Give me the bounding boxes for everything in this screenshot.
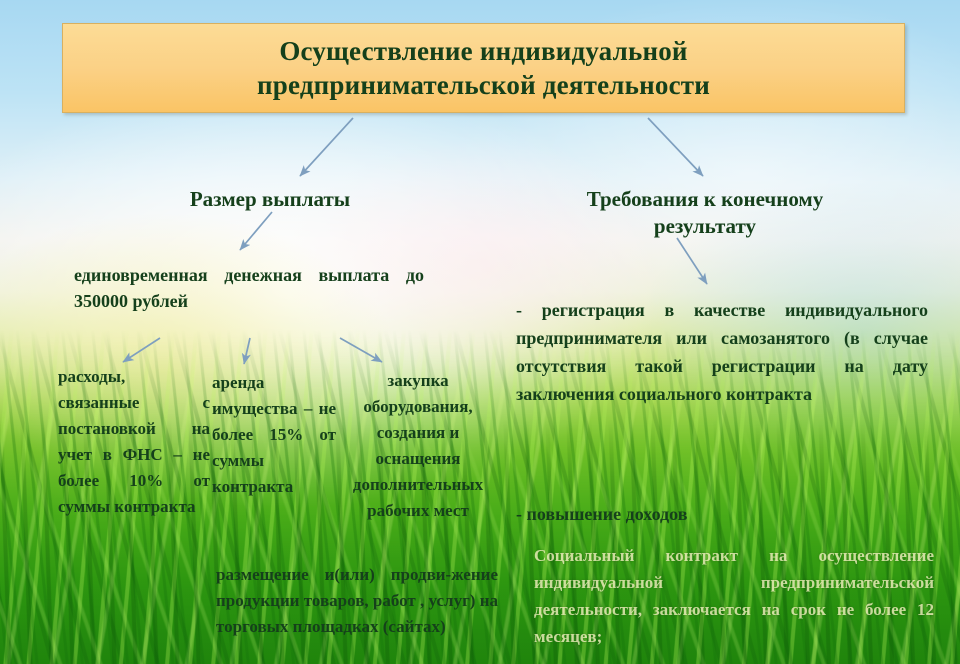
arrow-amount-to-expenses	[123, 338, 160, 362]
arrow-result-to-requirements	[677, 238, 707, 284]
result-requirement-income: - повышение доходов	[516, 500, 928, 528]
payment-amount-text: единовременная денежная выплата до 35000…	[74, 262, 424, 314]
arrow-amount-to-equipment	[340, 338, 382, 362]
arrow-payment-to-amount	[240, 212, 272, 250]
payment-branch-heading: Размер выплаты	[130, 186, 410, 213]
result-requirement-registration: - регистрация в качестве индивидуального…	[516, 296, 928, 408]
result-branch-heading: Требования к конечному результату	[540, 186, 870, 240]
arrow-title-to-payment	[300, 118, 353, 176]
result-heading-line-1: Требования к конечному	[540, 186, 870, 213]
slide-canvas: Осуществление индивидуальной предпринима…	[0, 0, 960, 664]
slide-title-line-2: предпринимательской деятельности	[257, 68, 710, 102]
slide-title-line-1: Осуществление индивидуальной	[279, 34, 687, 68]
arrow-amount-to-rent	[244, 338, 250, 364]
payment-item-expenses: расходы, связанные с постановкой на учет…	[58, 364, 210, 520]
result-heading-line-2: результату	[540, 213, 870, 240]
payment-item-promotion: размещение и(или) продви-жение продукции…	[216, 562, 498, 640]
payment-item-equipment: закупка оборудования, создания и оснащен…	[336, 368, 500, 524]
slide-title-banner: Осуществление индивидуальной предпринима…	[62, 23, 905, 113]
result-contract-term-note: Социальный контракт на осуществление инд…	[534, 542, 934, 650]
payment-item-rent: аренда имущества – не более 15% от суммы…	[212, 370, 336, 500]
arrow-title-to-result	[648, 118, 703, 176]
